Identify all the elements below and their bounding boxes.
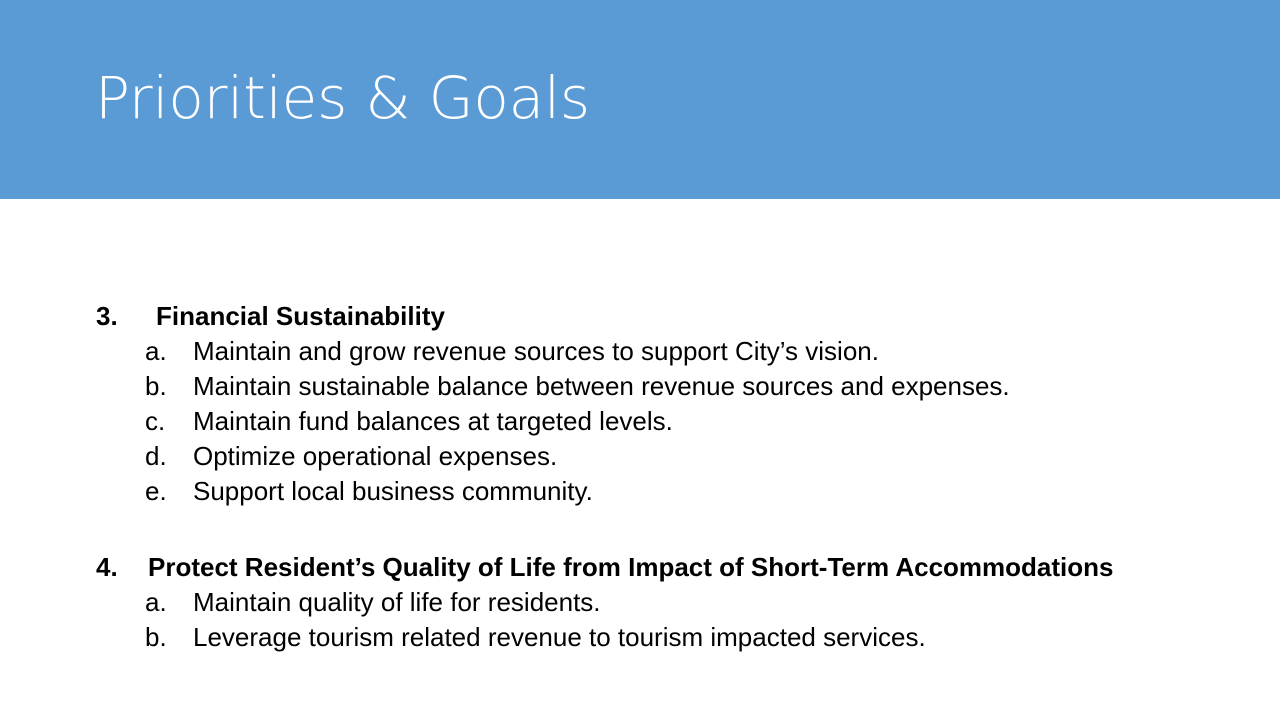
list-item: b. Maintain sustainable balance between … [96,369,1216,404]
goal-sub-list: a. Maintain and grow revenue sources to … [96,334,1216,509]
list-item: d. Optimize operational expenses. [96,439,1216,474]
sub-item-text: Maintain sustainable balance between rev… [193,369,1010,404]
sub-item-marker: c. [145,404,193,439]
list-item: a. Maintain and grow revenue sources to … [96,334,1216,369]
sub-item-marker: b. [145,620,193,655]
title-banner: Priorities & Goals [0,0,1280,199]
list-item: e. Support local business community. [96,474,1216,509]
sub-item-text: Optimize operational expenses. [193,439,557,474]
goal-marker: 3. [96,299,156,334]
slide-body: 3. Financial Sustainability a. Maintain … [0,199,1280,720]
list-item: a. Maintain quality of life for resident… [96,585,1216,620]
goal-group: 3. Financial Sustainability a. Maintain … [96,299,1216,509]
goal-group: 4. Protect Resident’s Quality of Life fr… [96,550,1216,655]
goal-marker: 4. [96,550,148,585]
list-item: c. Maintain fund balances at targeted le… [96,404,1216,439]
goal-heading-text: Financial Sustainability [156,299,445,334]
list-item: b. Leverage tourism related revenue to t… [96,620,1216,655]
sub-item-marker: b. [145,369,193,404]
goal-heading: 4. Protect Resident’s Quality of Life fr… [96,550,1216,585]
goal-heading: 3. Financial Sustainability [96,299,1216,334]
sub-item-text: Maintain fund balances at targeted level… [193,404,673,439]
sub-item-marker: d. [145,439,193,474]
sub-item-text: Maintain and grow revenue sources to sup… [193,334,879,369]
goals-outline: 3. Financial Sustainability a. Maintain … [96,299,1216,655]
goal-sub-list: a. Maintain quality of life for resident… [96,585,1216,655]
sub-item-text: Support local business community. [193,474,593,509]
sub-item-marker: e. [145,474,193,509]
sub-item-text: Maintain quality of life for residents. [193,585,601,620]
sub-item-text: Leverage tourism related revenue to tour… [193,620,926,655]
sub-item-marker: a. [145,334,193,369]
sub-item-marker: a. [145,585,193,620]
presentation-slide: Priorities & Goals 3. Financial Sustaina… [0,0,1280,720]
page-title: Priorities & Goals [95,66,590,131]
goal-heading-text: Protect Resident’s Quality of Life from … [148,550,1114,585]
